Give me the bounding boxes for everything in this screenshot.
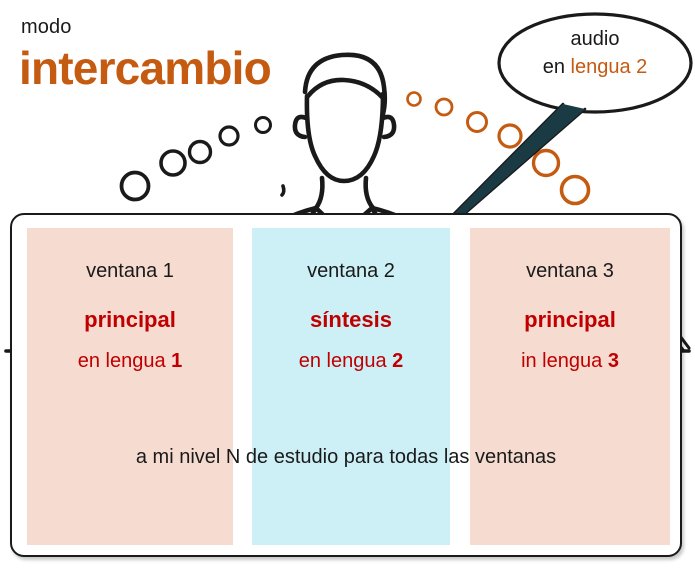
bubble-trail-black-icon — [122, 118, 271, 200]
window-column-3[interactable]: ventana 3 principal in lengua 3 — [470, 228, 670, 545]
window-column-3-language: in lengua 3 — [470, 351, 670, 371]
panel-footer-caption: a mi nivel N de estudio para todas las v… — [10, 447, 682, 467]
window-column-3-language-number: 3 — [608, 350, 619, 372]
speech-bubble-line-1: audio — [509, 26, 681, 54]
window-column-2-language: en lengua 2 — [252, 351, 450, 371]
window-column-3-role: principal — [470, 309, 670, 331]
window-column-1-language-prefix: en lengua — [78, 350, 171, 372]
window-column-1-role: principal — [27, 309, 233, 331]
window-column-2-language-prefix: en lengua — [299, 350, 392, 372]
page-title: intercambio — [19, 45, 271, 91]
window-column-2-label: ventana 2 — [252, 261, 450, 281]
speech-bubble-line-2-prefix: en — [543, 56, 571, 78]
window-column-1[interactable]: ventana 1 principal en lengua 1 — [27, 228, 233, 545]
speech-bubble-text: audio en lengua 2 — [509, 26, 681, 81]
speech-bubble-line-2-accent: lengua 2 — [571, 56, 648, 78]
window-column-1-language: en lengua 1 — [27, 351, 233, 371]
page-eyebrow: modo — [21, 17, 71, 37]
window-column-1-language-number: 1 — [171, 350, 182, 372]
window-column-2-language-number: 2 — [392, 350, 403, 372]
window-column-3-language-prefix: in lengua — [521, 350, 608, 372]
speech-bubble-line-2: en lengua 2 — [509, 54, 681, 82]
bubble-trail-orange-icon — [408, 93, 589, 204]
window-column-3-label: ventana 3 — [470, 261, 670, 281]
window-column-2-role: síntesis — [252, 309, 450, 331]
window-column-1-label: ventana 1 — [27, 261, 233, 281]
window-column-2[interactable]: ventana 2 síntesis en lengua 2 — [252, 228, 450, 545]
slide-canvas: modo intercambio — [0, 0, 695, 571]
